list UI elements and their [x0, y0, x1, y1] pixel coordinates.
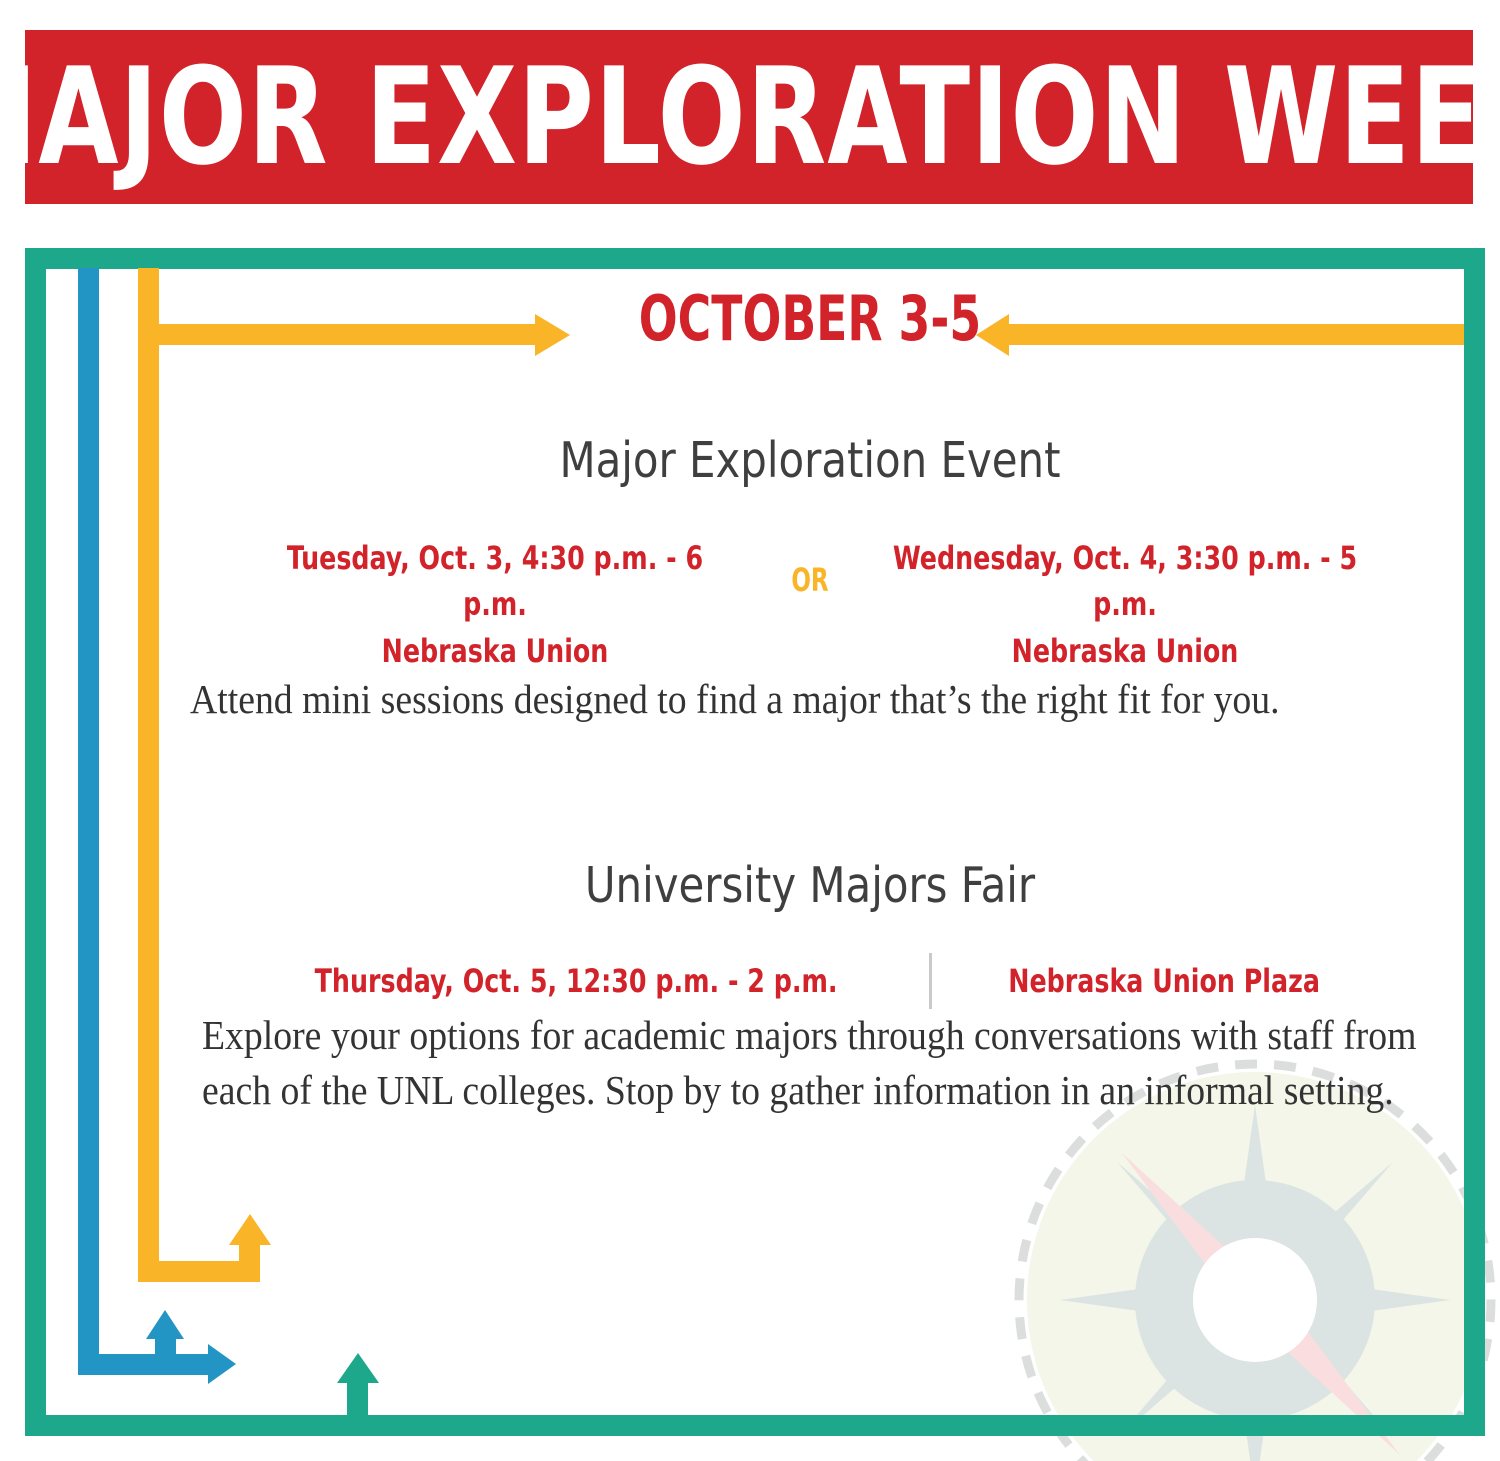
frame-border-left: [25, 248, 46, 1436]
event-options-row: Tuesday, Oct. 3, 4:30 p.m. - 6 p.m. Nebr…: [170, 535, 1450, 674]
fair-location: Nebraska Union Plaza: [1008, 959, 1320, 1004]
fair-datetime: Thursday, Oct. 5, 12:30 p.m. - 2 p.m.: [315, 959, 838, 1004]
date-headline: OCTOBER 3-5: [285, 288, 1335, 350]
fair-description: Explore your options for academic majors…: [202, 1008, 1453, 1118]
section-title-university-majors-fair: University Majors Fair: [202, 860, 1418, 911]
event-description: Attend mini sessions designed to find a …: [190, 672, 1414, 727]
frame-border-bottom: [25, 1415, 1485, 1436]
event-options-separator: OR: [774, 535, 846, 603]
event-option-a-location: Nebraska Union: [257, 628, 732, 674]
yellow-line-vertical: [138, 268, 159, 1282]
event-option-a-datetime: Tuesday, Oct. 3, 4:30 p.m. - 6 p.m.: [257, 535, 732, 628]
event-option-b: Wednesday, Oct. 4, 3:30 p.m. - 5 p.m. Ne…: [887, 535, 1362, 674]
frame-border-right: [1464, 248, 1485, 1436]
event-option-a: Tuesday, Oct. 3, 4:30 p.m. - 6 p.m. Nebr…: [257, 535, 732, 674]
fair-details-row: Thursday, Oct. 5, 12:30 p.m. - 2 p.m. Ne…: [170, 953, 1450, 1009]
blue-line-vertical: [78, 268, 99, 1375]
frame-border-top: [25, 248, 1485, 269]
section-title-major-exploration-event: Major Exploration Event: [202, 435, 1418, 486]
poster-canvas: MAJOR EXPLORATION WEEK OCTOBER 3-5 Major…: [0, 0, 1500, 1461]
event-option-b-datetime: Wednesday, Oct. 4, 3:30 p.m. - 5 p.m.: [887, 535, 1362, 628]
poster-content: OCTOBER 3-5 Major Exploration Event Tues…: [170, 280, 1450, 1410]
banner-title: MAJOR EXPLORATION WEEK: [126, 30, 1371, 204]
fair-details-divider: [929, 953, 932, 1009]
event-option-b-location: Nebraska Union: [887, 628, 1362, 674]
